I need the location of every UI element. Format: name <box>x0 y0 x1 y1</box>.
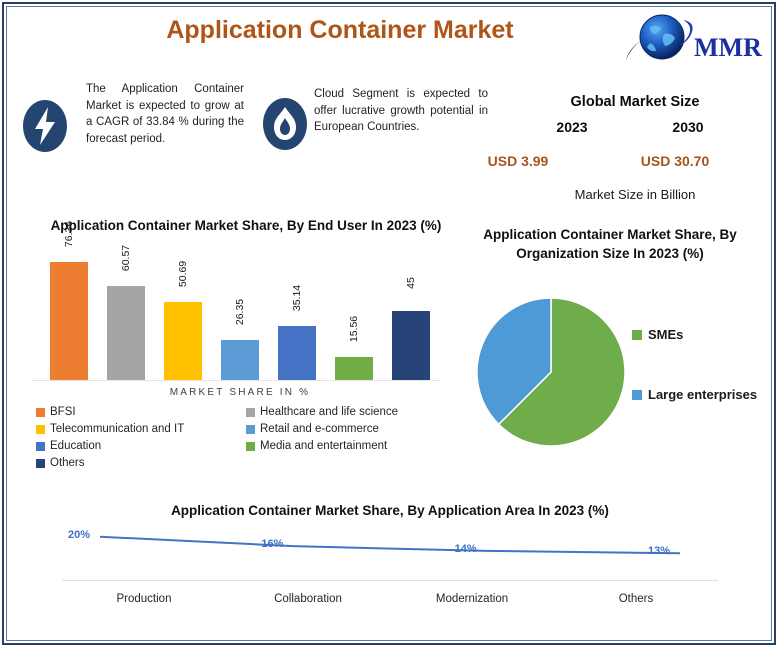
legend-item: Healthcare and life science <box>246 406 456 418</box>
highlight-text-2: Cloud Segment is expected to offer lucra… <box>314 86 488 136</box>
global-market-size-title: Global Market Size <box>512 94 758 110</box>
pie-chart-title: Application Container Market Share, By O… <box>470 225 750 263</box>
bar-column: 35.14 <box>278 256 316 381</box>
pie-legend-label: SMEs <box>648 327 683 342</box>
legend-swatch <box>36 459 45 468</box>
legend-item: Telecommunication and IT <box>36 423 246 435</box>
legend-swatch <box>36 425 45 434</box>
market-size-unit: Market Size in Billion <box>512 187 758 202</box>
line-category-label: Others <box>561 593 711 605</box>
bar-column: 15.56 <box>335 256 373 381</box>
legend-label: Education <box>50 440 101 452</box>
legend-label: Healthcare and life science <box>260 406 398 418</box>
market-size-value-2023: USD 3.99 <box>463 153 573 169</box>
market-size-value-2030: USD 30.70 <box>620 153 730 169</box>
bar-rect <box>107 286 145 381</box>
pie-legend-item-large-enterprises: Large enterprises <box>632 387 757 402</box>
bar-column: 50.69 <box>164 256 202 381</box>
legend-swatch <box>36 442 45 451</box>
line-chart-axis-line <box>62 580 718 581</box>
legend-row: EducationMedia and entertainment <box>36 440 456 452</box>
logo-text: MMR <box>694 33 762 62</box>
flame-icon <box>262 96 308 152</box>
lightning-bolt-icon <box>22 98 68 154</box>
infographic-root: Application Container Market <box>0 0 778 647</box>
line-category-label: Production <box>69 593 219 605</box>
globe-swoosh-logo-icon: MMR <box>620 10 770 72</box>
legend-item: BFSI <box>36 406 246 418</box>
market-size-year-2023: 2023 <box>527 119 617 135</box>
bar-chart-axis-line <box>32 380 440 381</box>
bar-column: 76.36 <box>50 256 88 381</box>
legend-swatch <box>36 408 45 417</box>
legend-label: Others <box>50 457 85 469</box>
legend-label: Media and entertainment <box>260 440 387 452</box>
bar-chart-title: Application Container Market Share, By E… <box>40 216 452 235</box>
bar-value-label: 45 <box>405 277 417 289</box>
page-title: Application Container Market <box>60 16 620 45</box>
bar-value-label: 35.14 <box>291 285 303 311</box>
bar-rect <box>335 357 373 381</box>
legend-label: Telecommunication and IT <box>50 423 184 435</box>
highlight-text-1: The Application Container Market is expe… <box>86 81 244 147</box>
bar-chart-plot: 76.3660.5750.6926.3535.1415.5645 <box>40 256 440 381</box>
line-value-label: 20% <box>68 529 90 541</box>
legend-swatch <box>246 425 255 434</box>
line-value-label: 13% <box>648 545 670 557</box>
line-chart-plot <box>90 528 690 580</box>
legend-row: Others <box>36 457 456 469</box>
bar-chart-xlabel: MARKET SHARE IN % <box>40 387 440 398</box>
legend-item: Education <box>36 440 246 452</box>
bar-chart-legend: BFSIHealthcare and life scienceTelecommu… <box>36 406 456 474</box>
bar-value-label: 60.57 <box>120 245 132 271</box>
bar-rect <box>392 311 430 381</box>
bar-value-label: 15.56 <box>348 316 360 342</box>
legend-item <box>246 457 456 469</box>
pie-chart-plot <box>476 296 626 448</box>
legend-label: BFSI <box>50 406 76 418</box>
legend-item: Retail and e-commerce <box>246 423 456 435</box>
pie-legend-swatch <box>632 330 642 340</box>
mmr-logo: MMR <box>620 10 770 72</box>
bar-rect <box>221 340 259 381</box>
legend-swatch <box>246 442 255 451</box>
legend-item: Others <box>36 457 246 469</box>
legend-item: Media and entertainment <box>246 440 456 452</box>
line-category-label: Modernization <box>397 593 547 605</box>
bar-value-label: 50.69 <box>177 261 189 287</box>
bar-value-label: 76.36 <box>63 221 75 247</box>
legend-label: Retail and e-commerce <box>260 423 379 435</box>
pie-legend-swatch <box>632 390 642 400</box>
bar-rect <box>164 302 202 381</box>
bar-value-label: 26.35 <box>234 299 246 325</box>
legend-row: BFSIHealthcare and life science <box>36 406 456 418</box>
line-chart-title: Application Container Market Share, By A… <box>60 503 720 518</box>
legend-swatch <box>246 408 255 417</box>
pie-legend-item-smes: SMEs <box>632 327 683 342</box>
line-value-label: 16% <box>261 538 283 550</box>
bar-rect <box>278 326 316 381</box>
legend-row: Telecommunication and ITRetail and e-com… <box>36 423 456 435</box>
line-series-path <box>100 537 680 554</box>
line-value-label: 14% <box>455 543 477 555</box>
pie-legend-label: Large enterprises <box>648 387 757 402</box>
bar-rect <box>50 262 88 381</box>
bar-column: 45 <box>392 256 430 381</box>
bar-column: 26.35 <box>221 256 259 381</box>
bar-column: 60.57 <box>107 256 145 381</box>
line-category-label: Collaboration <box>233 593 383 605</box>
market-size-year-2030: 2030 <box>643 119 733 135</box>
